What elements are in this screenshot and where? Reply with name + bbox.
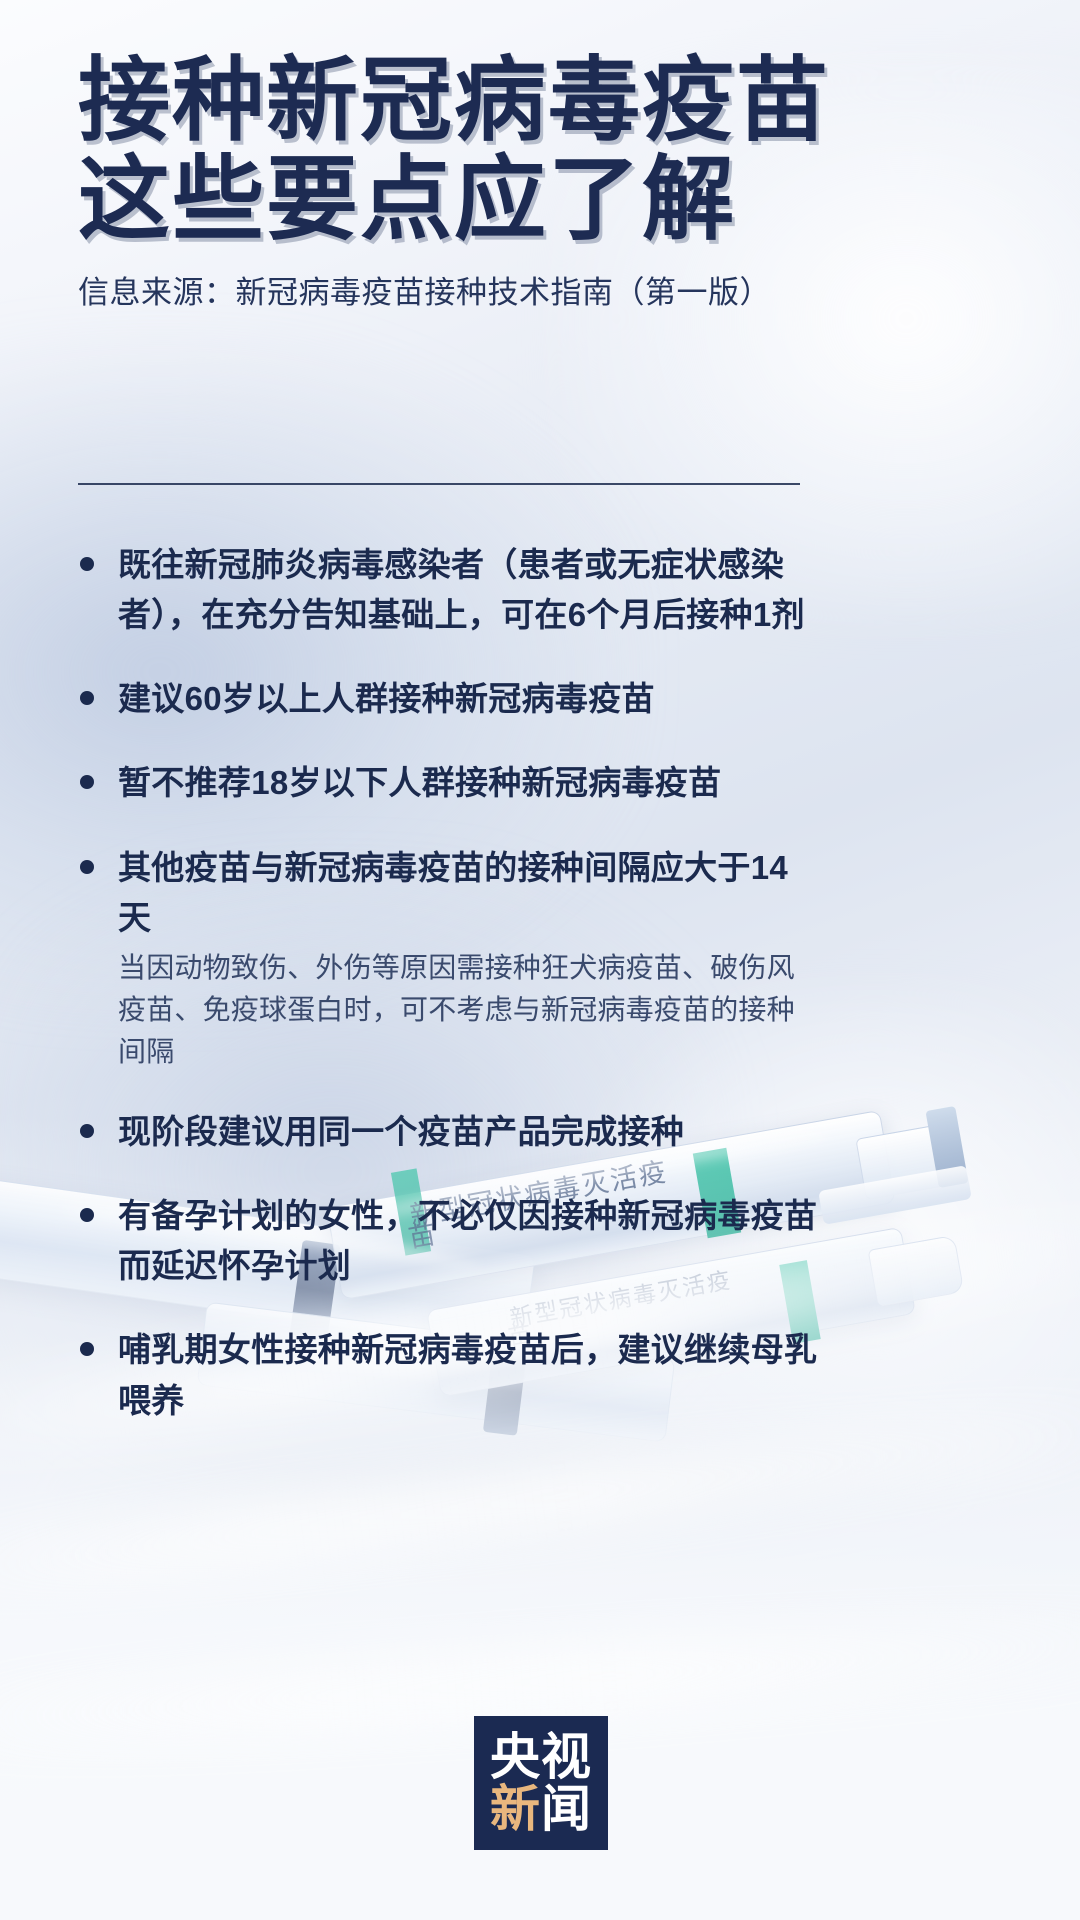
logo-row-top: 央 视 xyxy=(490,1732,592,1782)
cctv-news-logo: 央 视 新 闻 xyxy=(474,1716,608,1850)
bullet-main-text: 现阶段建议用同一个疫苗产品完成接种 xyxy=(118,1107,818,1157)
page-title-line-1: 接种新冠病毒疫苗 xyxy=(78,52,1008,151)
bullet-main-text: 暂不推荐18岁以下人群接种新冠病毒疫苗 xyxy=(118,758,818,808)
bullet-dot-icon xyxy=(80,1124,94,1138)
logo-char-shi: 视 xyxy=(541,1732,592,1782)
logo-char-wen: 闻 xyxy=(541,1784,592,1834)
bullet-dot-icon xyxy=(80,691,94,705)
logo-char-yang: 央 xyxy=(490,1732,541,1782)
page-title-line-2: 这些要点应了解 xyxy=(78,151,1008,250)
header-divider xyxy=(78,483,800,485)
list-item: 有备孕计划的女性，不必仅因接种新冠病毒疫苗而延迟怀孕计划 xyxy=(78,1191,818,1291)
list-item: 既往新冠肺炎病毒感染者（患者或无症状感染者），在充分告知基础上，可在6个月后接种… xyxy=(78,540,818,640)
bullet-dot-icon xyxy=(80,860,94,874)
bullet-main-text: 其他疫苗与新冠病毒疫苗的接种间隔应大于14天 xyxy=(118,843,818,943)
bullet-dot-icon xyxy=(80,1208,94,1222)
list-item: 其他疫苗与新冠病毒疫苗的接种间隔应大于14天 当因动物致伤、外伤等原因需接种狂犬… xyxy=(78,843,818,1073)
bullet-main-text: 哺乳期女性接种新冠病毒疫苗后，建议继续母乳喂养 xyxy=(118,1325,818,1425)
source-subtitle: 信息来源：新冠病毒疫苗接种技术指南（第一版） xyxy=(78,271,1008,314)
title-block: 接种新冠病毒疫苗 这些要点应了解 信息来源：新冠病毒疫苗接种技术指南（第一版） xyxy=(78,52,1008,314)
bullet-sub-text: 当因动物致伤、外伤等原因需接种狂犬病疫苗、破伤风疫苗、免疫球蛋白时，可不考虑与新… xyxy=(118,947,818,1073)
bullet-dot-icon xyxy=(80,775,94,789)
logo-char-xin: 新 xyxy=(490,1784,541,1834)
bullet-main-text: 有备孕计划的女性，不必仅因接种新冠病毒疫苗而延迟怀孕计划 xyxy=(118,1191,818,1291)
bullet-list: 既往新冠肺炎病毒感染者（患者或无症状感染者），在充分告知基础上，可在6个月后接种… xyxy=(78,540,818,1460)
list-item: 暂不推荐18岁以下人群接种新冠病毒疫苗 xyxy=(78,758,818,808)
bullet-main-text: 既往新冠肺炎病毒感染者（患者或无症状感染者），在充分告知基础上，可在6个月后接种… xyxy=(118,540,818,640)
list-item: 建议60岁以上人群接种新冠病毒疫苗 xyxy=(78,674,818,724)
logo-row-bottom: 新 闻 xyxy=(490,1784,592,1834)
bullet-main-text: 建议60岁以上人群接种新冠病毒疫苗 xyxy=(118,674,818,724)
content-layer: 接种新冠病毒疫苗 这些要点应了解 信息来源：新冠病毒疫苗接种技术指南（第一版） … xyxy=(0,0,1080,1920)
list-item: 现阶段建议用同一个疫苗产品完成接种 xyxy=(78,1107,818,1157)
poster-root: 新型冠状病毒灭活疫 苗 新型冠状病毒灭活疫 苗 接种新冠病毒疫苗 这些要点应了解… xyxy=(0,0,1080,1920)
bullet-dot-icon xyxy=(80,1342,94,1356)
bullet-dot-icon xyxy=(80,557,94,571)
list-item: 哺乳期女性接种新冠病毒疫苗后，建议继续母乳喂养 xyxy=(78,1325,818,1425)
